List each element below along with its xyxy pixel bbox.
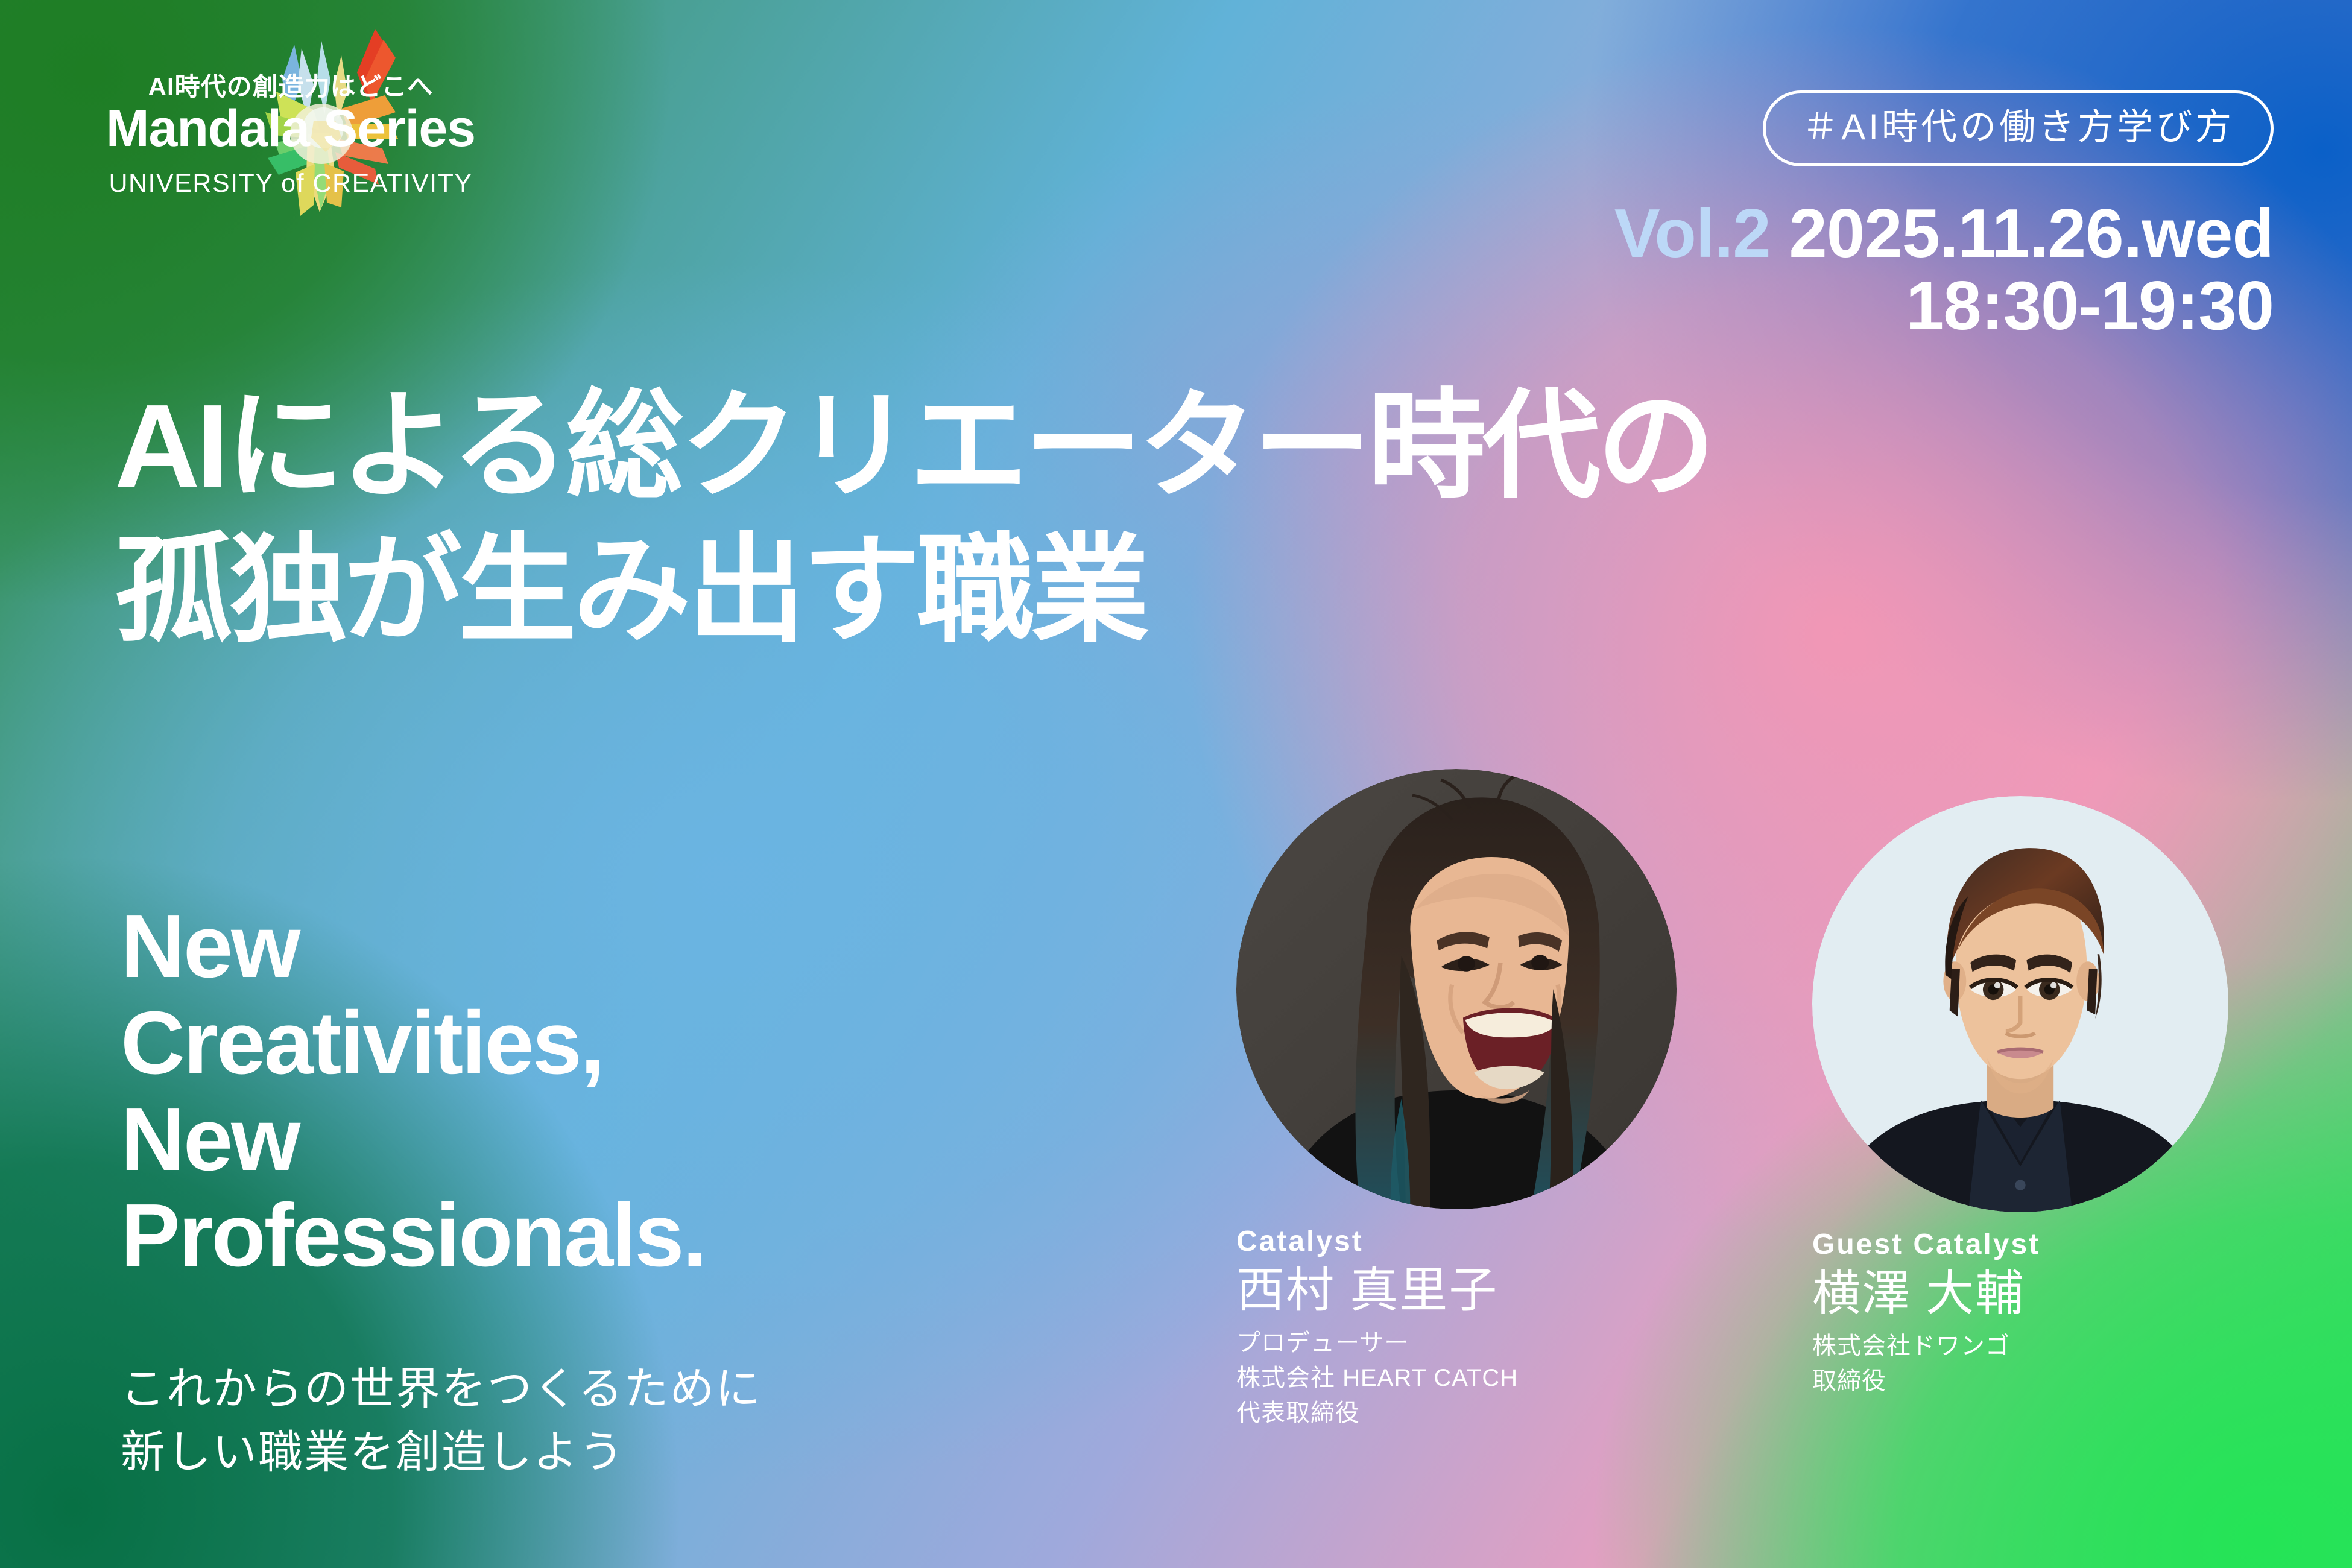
event-date-line: Vol.2 2025.11.26.wed xyxy=(1614,199,2274,269)
tagline-line-2: Creativities, xyxy=(121,995,1146,1092)
speaker-meta-1: プロデューサー xyxy=(1236,1326,1677,1361)
title-line-2: 孤独が生み出す職業 xyxy=(115,518,1924,662)
subtitle: これからの世界をつくるために 新しい職業を創造しよう xyxy=(121,1357,1025,1484)
event-poster: AI時代の創造力はどこへ Mandala Series UNIVERSITY o… xyxy=(0,0,2352,1568)
hashtag-badge: ＃AI時代の働き方学び方 xyxy=(1763,90,2274,166)
tagline-line-4: Professionals. xyxy=(121,1187,1146,1284)
speaker-meta: 株式会社ドワンゴ 取締役 xyxy=(1812,1329,2228,1399)
event-date: 2025.11.26.wed xyxy=(1789,195,2274,272)
speaker-meta: プロデューサー 株式会社 HEART CATCH 代表取締役 xyxy=(1236,1326,1677,1430)
speaker-meta-3: 代表取締役 xyxy=(1236,1396,1677,1430)
tagline-line-3: New xyxy=(121,1092,1146,1188)
speaker-card: Catalyst 西村 真里子 プロデューサー 株式会社 HEART CATCH… xyxy=(1236,769,1677,1430)
event-date-block: Vol.2 2025.11.26.wed 18:30-19:30 xyxy=(1614,199,2274,342)
title-line-1: AIによる総クリエーター時代の xyxy=(115,374,1924,518)
speaker-meta-2: 株式会社 HEART CATCH xyxy=(1236,1361,1677,1396)
portrait-yokozawa xyxy=(1812,796,2228,1212)
speaker-meta-2: 取締役 xyxy=(1812,1364,2228,1399)
brand-name: Mandala Series xyxy=(92,103,490,154)
brand-org: UNIVERSITY of CREATIVITY xyxy=(92,169,490,198)
event-time: 18:30-19:30 xyxy=(1614,271,2274,341)
speaker-role: Guest Catalyst xyxy=(1812,1228,2228,1261)
subtitle-line-1: これからの世界をつくるために xyxy=(121,1357,1025,1420)
page-title: AIによる総クリエーター時代の 孤独が生み出す職業 xyxy=(115,374,1924,662)
subtitle-line-2: 新しい職業を創造しよう xyxy=(121,1420,1025,1484)
portrait-nishimura xyxy=(1236,769,1677,1209)
speaker-name: 西村 真里子 xyxy=(1236,1264,1677,1317)
brand-logo: AI時代の創造力はどこへ Mandala Series UNIVERSITY o… xyxy=(72,36,507,229)
brand-kicker: AI時代の創造力はどこへ xyxy=(92,66,490,103)
speaker-role: Catalyst xyxy=(1236,1225,1677,1258)
speaker-name: 横澤 大輔 xyxy=(1812,1267,2228,1320)
tagline-line-1: New xyxy=(121,899,1146,995)
avatar xyxy=(1236,769,1677,1209)
avatar xyxy=(1812,796,2228,1212)
speaker-meta-1: 株式会社ドワンゴ xyxy=(1812,1329,2228,1364)
tagline: New Creativities, New Professionals. xyxy=(121,899,1146,1284)
event-volume: Vol.2 xyxy=(1614,195,1771,272)
speaker-card: Guest Catalyst 横澤 大輔 株式会社ドワンゴ 取締役 xyxy=(1812,796,2228,1399)
